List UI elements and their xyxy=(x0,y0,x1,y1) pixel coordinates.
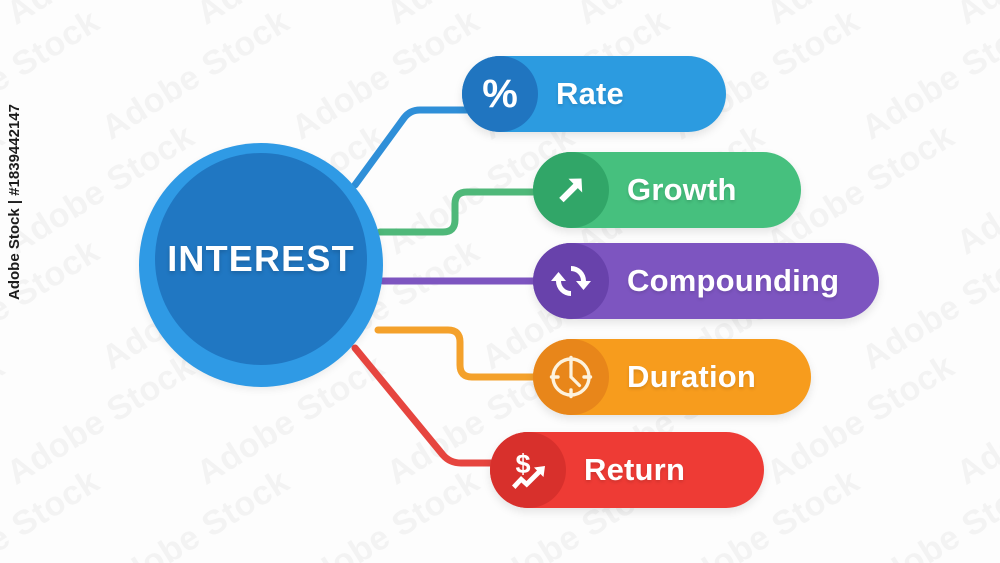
svg-text:$: $ xyxy=(515,449,530,479)
arrow-up-right-icon xyxy=(549,168,593,212)
connector-return xyxy=(355,348,500,463)
branch-label-growth: Growth xyxy=(627,172,737,208)
hub-inner-circle: INTEREST xyxy=(155,153,367,365)
hub-label: INTEREST xyxy=(167,238,355,280)
stock-credit: Adobe Stock | #1839442147 xyxy=(6,104,23,300)
branch-label-duration: Duration xyxy=(627,359,756,395)
connector-rate xyxy=(355,110,470,185)
branch-label-compounding: Compounding xyxy=(627,263,839,299)
refresh-cycle-icon xyxy=(548,258,594,304)
duration-badge xyxy=(533,339,609,415)
percent-icon: % xyxy=(482,74,518,114)
branch-label-return: Return xyxy=(584,452,685,488)
dollar-growth-icon: $ xyxy=(504,446,552,494)
compounding-badge xyxy=(533,243,609,319)
branch-pill-growth[interactable]: Growth xyxy=(533,152,801,228)
hub-circle[interactable]: INTEREST xyxy=(139,143,383,387)
connector-duration xyxy=(378,330,543,377)
rate-badge: % xyxy=(462,56,538,132)
branch-pill-duration[interactable]: Duration xyxy=(533,339,811,415)
branch-pill-compounding[interactable]: Compounding xyxy=(533,243,879,319)
connector-growth xyxy=(380,192,540,232)
branch-pill-rate[interactable]: % Rate xyxy=(462,56,726,132)
infographic-canvas: Adobe StockAdobe StockAdobe StockAdobe S… xyxy=(0,0,1000,563)
branch-pill-return[interactable]: $ Return xyxy=(490,432,764,508)
clock-icon xyxy=(546,352,596,402)
growth-badge xyxy=(533,152,609,228)
return-badge: $ xyxy=(490,432,566,508)
branch-label-rate: Rate xyxy=(556,76,624,112)
